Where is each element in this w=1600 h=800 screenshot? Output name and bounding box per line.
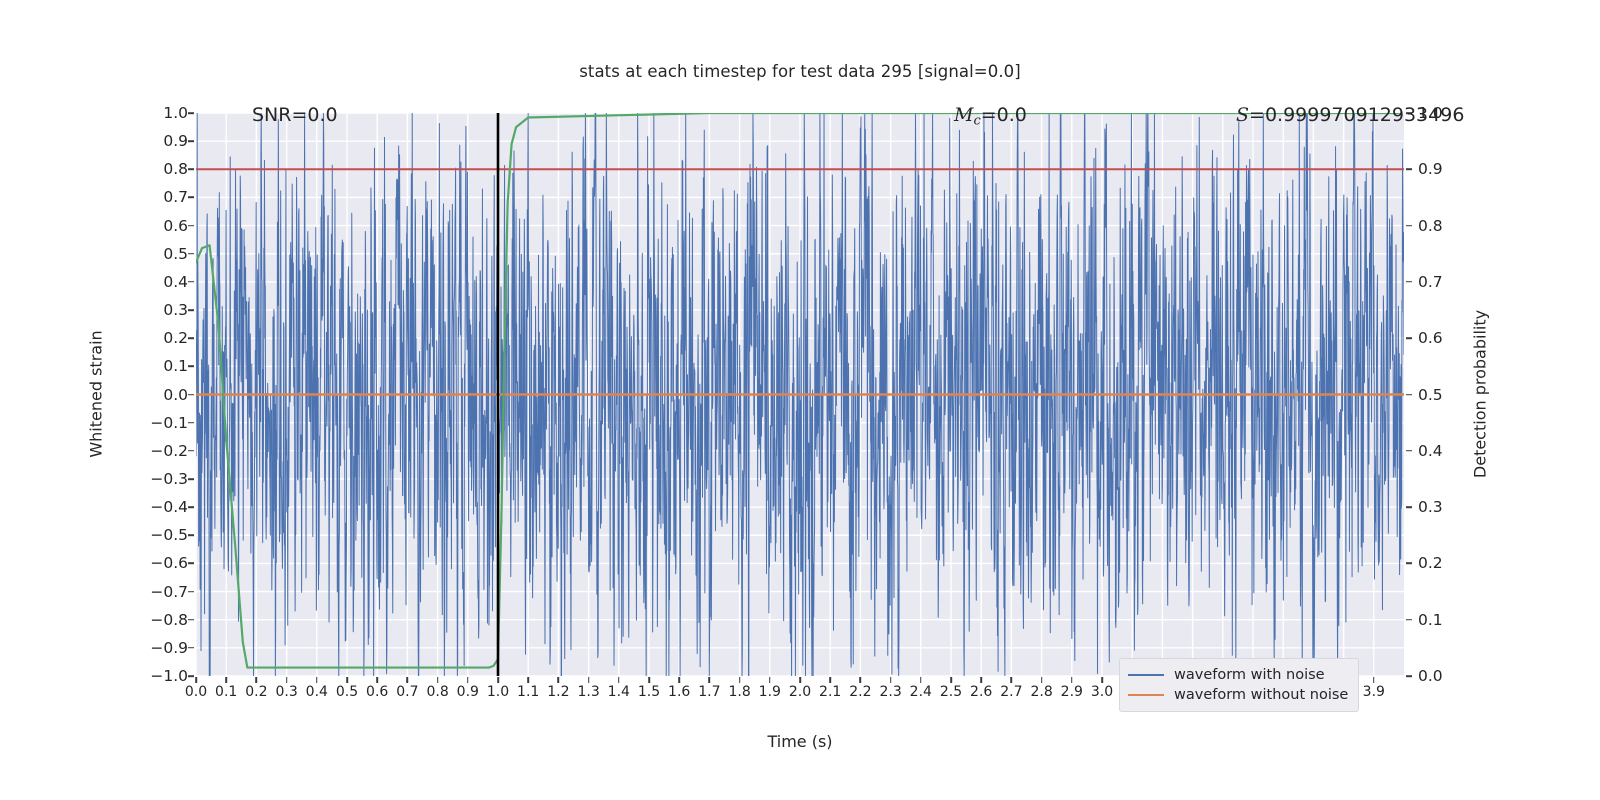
annotation-chirp-mass: Mc=0.0: [954, 104, 1027, 129]
x-tick-label: 0.8: [426, 684, 448, 700]
x-tick-label: 2.7: [1000, 684, 1022, 700]
x-tick-label: 0.6: [366, 684, 388, 700]
x-tick-label: 1.0: [487, 684, 509, 700]
x-tick-label: 3.9: [1363, 684, 1385, 700]
x-tick-label: 0.5: [336, 684, 358, 700]
x-tick-label: 0.9: [457, 684, 479, 700]
x-tick-mark: [316, 677, 318, 683]
x-tick-mark: [527, 677, 529, 683]
x-tick-label: 1.3: [577, 684, 599, 700]
x-tick-label: 1.6: [668, 684, 690, 700]
x-tick-label: 1.8: [728, 684, 750, 700]
x-tick-mark: [678, 677, 680, 683]
x-tick-mark: [225, 677, 227, 683]
x-tick-mark: [256, 677, 258, 683]
x-tick-mark: [588, 677, 590, 683]
x-tick-mark: [467, 677, 469, 683]
x-axis-label: Time (s): [0, 732, 1600, 751]
chirp-mass-symbol: M: [954, 104, 973, 126]
x-tick-label: 2.2: [849, 684, 871, 700]
x-tick-mark: [497, 677, 499, 683]
x-tick-mark: [558, 677, 560, 683]
x-tick-label: 1.2: [547, 684, 569, 700]
x-tick-mark: [195, 677, 197, 683]
x-tick-label: 0.4: [306, 684, 328, 700]
x-tick-label: 2.3: [879, 684, 901, 700]
x-tick-mark: [1373, 677, 1375, 683]
x-tick-label: 1.5: [638, 684, 660, 700]
x-tick-mark: [648, 677, 650, 683]
x-tick-mark: [437, 677, 439, 683]
annotation-statistic: S=0.999970912933496: [1236, 104, 1464, 126]
x-tick-label: 2.6: [970, 684, 992, 700]
legend-item-waveform-without-noise[interactable]: waveform without noise: [1128, 685, 1348, 705]
x-tick-label: 1.9: [759, 684, 781, 700]
statistic-symbol: S: [1236, 104, 1249, 126]
legend-swatch-orange: [1128, 694, 1164, 696]
x-tick-mark: [346, 677, 348, 683]
legend: waveform with noise waveform without noi…: [1119, 658, 1359, 712]
x-tick-mark: [1041, 677, 1043, 683]
x-tick-label: 0.0: [185, 684, 207, 700]
x-tick-mark: [709, 677, 711, 683]
annotation-snr: SNR=0.0: [252, 104, 338, 126]
legend-swatch-blue: [1128, 674, 1164, 676]
statistic-value: =0.999970912933496: [1249, 104, 1464, 126]
x-tick-mark: [799, 677, 801, 683]
x-tick-label: 0.2: [245, 684, 267, 700]
x-tick-mark: [829, 677, 831, 683]
x-tick-label: 2.4: [910, 684, 932, 700]
x-tick-mark: [920, 677, 922, 683]
x-tick-mark: [1071, 677, 1073, 683]
chirp-mass-value: =0.0: [981, 104, 1027, 126]
x-tick-mark: [860, 677, 862, 683]
x-tick-mark: [950, 677, 952, 683]
x-tick-label: 1.7: [698, 684, 720, 700]
x-tick-label: 2.9: [1061, 684, 1083, 700]
x-tick-label: 2.1: [819, 684, 841, 700]
x-tick-mark: [769, 677, 771, 683]
x-tick-mark: [407, 677, 409, 683]
legend-item-waveform-with-noise[interactable]: waveform with noise: [1128, 665, 1348, 685]
x-tick-label: 0.7: [396, 684, 418, 700]
x-tick-mark: [739, 677, 741, 683]
x-tick-label: 2.8: [1030, 684, 1052, 700]
x-tick-label: 1.1: [517, 684, 539, 700]
x-tick-mark: [980, 677, 982, 683]
x-tick-label: 2.0: [789, 684, 811, 700]
x-tick-label: 0.3: [275, 684, 297, 700]
legend-label: waveform without noise: [1174, 687, 1348, 703]
y-axis-label-right: Detection probability: [1471, 310, 1490, 478]
x-tick-mark: [890, 677, 892, 683]
legend-label: waveform with noise: [1174, 667, 1325, 683]
matplotlib-figure: stats at each timestep for test data 295…: [0, 0, 1600, 800]
x-tick-mark: [618, 677, 620, 683]
x-tick-mark: [376, 677, 378, 683]
x-tick-mark: [286, 677, 288, 683]
x-tick-label: 2.5: [940, 684, 962, 700]
x-tick-mark: [1101, 677, 1103, 683]
x-tick-label: 1.4: [608, 684, 630, 700]
x-tick-label: 0.1: [215, 684, 237, 700]
x-tick-mark: [1011, 677, 1013, 683]
y-axis-label-left: Whitened strain: [87, 330, 106, 457]
x-tick-label: 3.0: [1091, 684, 1113, 700]
chirp-mass-subscript: c: [973, 114, 980, 129]
